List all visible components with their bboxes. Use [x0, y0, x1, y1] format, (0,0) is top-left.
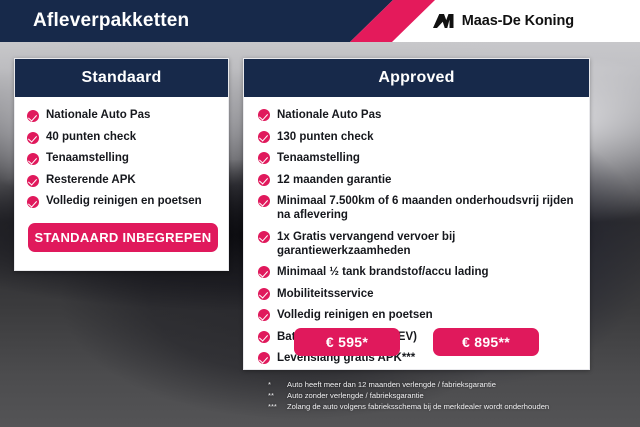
feature-label: 12 maanden garantie — [277, 173, 391, 187]
price-button-895[interactable]: € 895** — [433, 328, 539, 356]
brand-lockup: Maas-De Koning — [433, 0, 574, 42]
list-item: Minimaal ½ tank brandstof/accu lading — [258, 265, 579, 279]
check-circle-icon — [27, 153, 39, 165]
check-circle-icon — [27, 132, 39, 144]
feature-label: Mobiliteitsservice — [277, 287, 374, 301]
list-item: Mobiliteitsservice — [258, 287, 579, 301]
card-title-standaard: Standaard — [15, 59, 228, 97]
list-item: Tenaamstelling — [258, 151, 579, 165]
footnote-marker: ** — [268, 390, 287, 401]
feature-label: Tenaamstelling — [277, 151, 360, 165]
footnotes: * Auto heeft meer dan 12 maanden verleng… — [268, 379, 598, 413]
check-circle-icon — [258, 309, 270, 321]
list-item: Volledig reinigen en poetsen — [258, 308, 579, 322]
feature-list-approved: Nationale Auto Pas 130 punten check Tena… — [244, 97, 589, 365]
footnote-1: * Auto heeft meer dan 12 maanden verleng… — [268, 379, 598, 390]
feature-label: 40 punten check — [46, 131, 136, 143]
check-circle-icon — [258, 231, 270, 243]
maas-de-koning-m-mark-icon — [433, 13, 455, 29]
list-item: Volledig reinigen en poetsen — [27, 195, 218, 208]
feature-label: Minimaal 7.500km of 6 maanden onderhouds… — [277, 194, 579, 222]
list-item: Nationale Auto Pas — [258, 108, 579, 122]
list-item: 130 punten check — [258, 130, 579, 144]
package-card-standaard: Standaard Nationale Auto Pas 40 punten c… — [14, 58, 229, 271]
feature-label: Nationale Auto Pas — [277, 108, 381, 122]
feature-label: 1x Gratis vervangend vervoer bij garanti… — [277, 230, 579, 258]
check-circle-icon — [27, 196, 39, 208]
check-circle-icon — [258, 195, 270, 207]
list-item: Nationale Auto Pas — [27, 109, 218, 122]
footnote-text: Zolang de auto volgens fabrieksschema bi… — [287, 401, 549, 412]
footnote-marker: * — [268, 379, 287, 390]
footnote-text: Auto heeft meer dan 12 maanden verlengde… — [287, 379, 496, 390]
brand-name: Maas-De Koning — [462, 13, 574, 29]
feature-label: Volledig reinigen en poetsen — [277, 308, 433, 322]
page-header: Afleverpakketten Maas-De Koning — [0, 0, 640, 42]
check-circle-icon — [258, 152, 270, 164]
check-circle-icon — [27, 175, 39, 187]
check-circle-icon — [258, 266, 270, 278]
check-circle-icon — [27, 110, 39, 122]
feature-label: Nationale Auto Pas — [46, 109, 150, 121]
feature-label: 130 punten check — [277, 130, 374, 144]
standaard-included-button[interactable]: STANDAARD INBEGREPEN — [28, 223, 218, 252]
feature-label: Resterende APK — [46, 174, 136, 186]
check-circle-icon — [258, 174, 270, 186]
package-card-approved: Approved Nationale Auto Pas 130 punten c… — [243, 58, 590, 370]
footnote-text: Auto zonder verlengde / fabrieksgarantie — [287, 390, 424, 401]
check-circle-icon — [258, 288, 270, 300]
feature-label: Tenaamstelling — [46, 152, 129, 164]
list-item: 1x Gratis vervangend vervoer bij garanti… — [258, 230, 579, 258]
check-circle-icon — [258, 131, 270, 143]
list-item: Tenaamstelling — [27, 152, 218, 165]
feature-list-standaard: Nationale Auto Pas 40 punten check Tenaa… — [15, 97, 228, 208]
feature-label: Volledig reinigen en poetsen — [46, 195, 202, 207]
footnote-2: ** Auto zonder verlengde / fabrieksgaran… — [268, 390, 598, 401]
list-item: 40 punten check — [27, 131, 218, 144]
price-button-row: € 595* € 895** — [244, 328, 589, 356]
list-item: Resterende APK — [27, 174, 218, 187]
footnote-marker: *** — [268, 401, 287, 412]
footnote-3: *** Zolang de auto volgens fabrieksschem… — [268, 401, 598, 412]
list-item: 12 maanden garantie — [258, 173, 579, 187]
check-circle-icon — [258, 109, 270, 121]
price-button-595[interactable]: € 595* — [294, 328, 400, 356]
list-item: Minimaal 7.500km of 6 maanden onderhouds… — [258, 194, 579, 222]
feature-label: Minimaal ½ tank brandstof/accu lading — [277, 265, 489, 279]
page-title: Afleverpakketten — [33, 0, 189, 42]
card-title-approved: Approved — [244, 59, 589, 97]
